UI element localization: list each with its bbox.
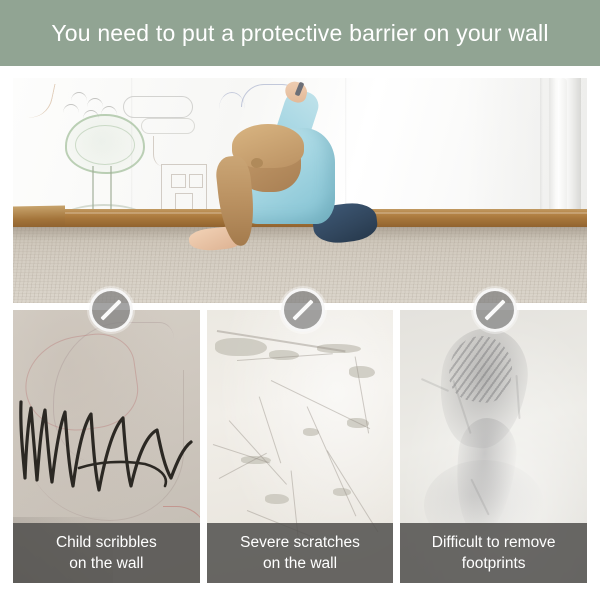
paint-chip [333, 488, 351, 496]
caption-line-1: Severe scratches [240, 532, 360, 553]
door-edge [540, 78, 543, 218]
prohibition-icon [281, 288, 325, 332]
caption-line-2: footprints [462, 553, 526, 574]
hero-photo [13, 78, 587, 303]
carpet-shadow [13, 227, 587, 241]
crayon-cloud [141, 118, 195, 134]
crayon-house-window [171, 174, 186, 188]
crayon-cloud [123, 96, 193, 118]
panel-caption: Severe scratches on the wall [207, 523, 394, 583]
prohibition-icon [473, 288, 517, 332]
crayon-tree-canopy [65, 114, 145, 174]
panel-child-scribbles[interactable]: Child scribbles on the wall [13, 310, 200, 583]
panel-caption: Difficult to remove footprints [400, 523, 587, 583]
panel-caption: Child scribbles on the wall [13, 523, 200, 583]
girl-hair-tie [251, 158, 263, 168]
paint-chip [265, 494, 289, 504]
wall-seam [345, 78, 347, 220]
crayon-flower [153, 136, 176, 166]
paint-chip [215, 338, 267, 356]
scratch-line [270, 380, 369, 429]
header-banner: You need to put a protective barrier on … [0, 0, 600, 66]
paint-chip [349, 366, 375, 378]
panel-footprints[interactable]: Difficult to remove footprints [400, 310, 587, 583]
caption-line-2: on the wall [69, 553, 143, 574]
door-trim-molding [549, 78, 581, 218]
caption-line-1: Difficult to remove [432, 532, 556, 553]
black-crayon-zigzag [19, 398, 189, 490]
caption-line-2: on the wall [263, 553, 337, 574]
panel-severe-scratches[interactable]: Severe scratches on the wall [207, 310, 394, 583]
prohibition-icon [89, 288, 133, 332]
product-infographic: You need to put a protective barrier on … [0, 0, 600, 600]
banner-title: You need to put a protective barrier on … [51, 20, 548, 47]
crayon-house-window [189, 174, 203, 188]
scratch-line [258, 396, 281, 463]
problem-panels: Child scribbles on the wall [13, 310, 587, 583]
caption-line-1: Child scribbles [56, 532, 157, 553]
